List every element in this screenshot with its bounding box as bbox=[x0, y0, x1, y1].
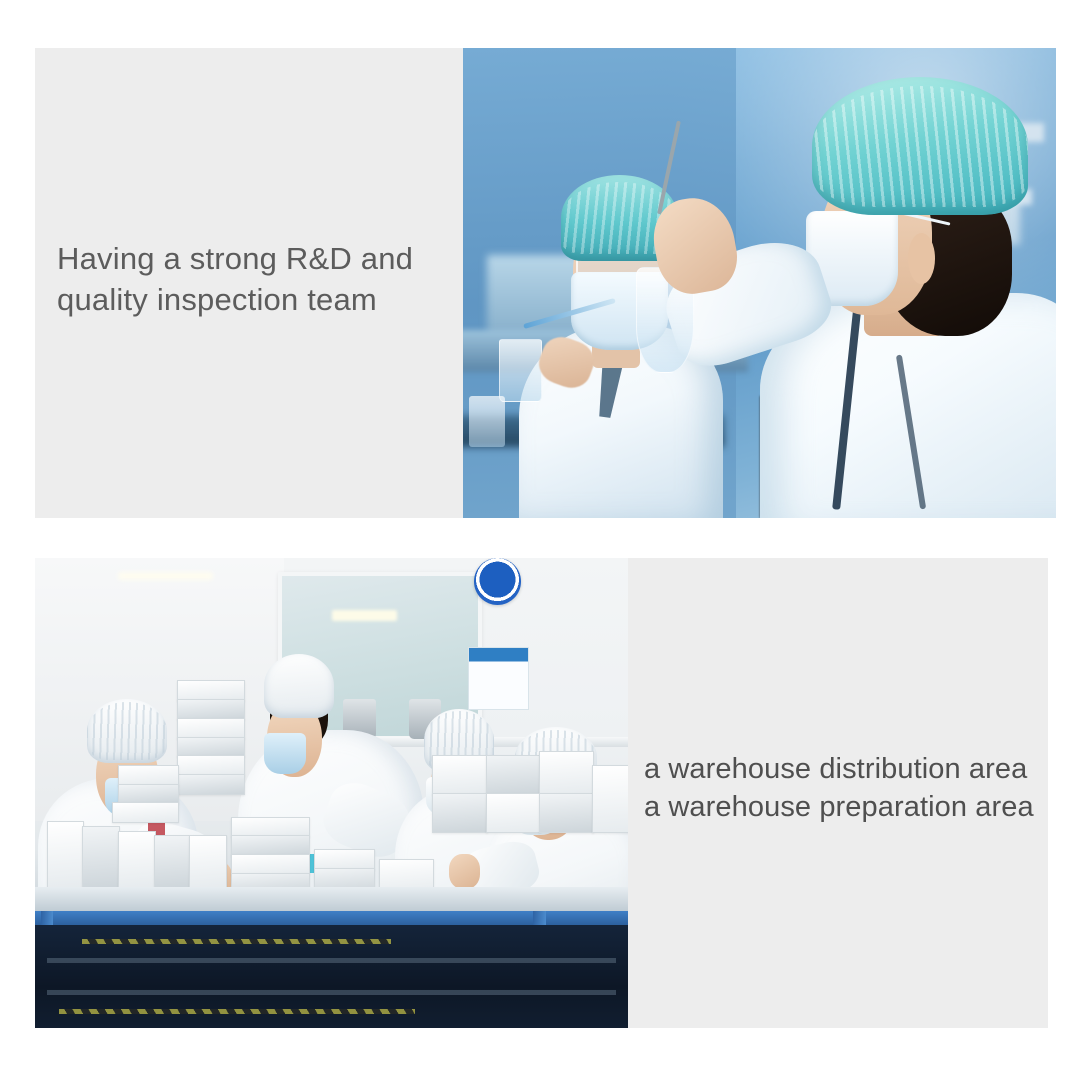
carton bbox=[231, 817, 310, 838]
carton bbox=[177, 774, 244, 795]
carton bbox=[432, 755, 487, 795]
floor-hazard-stripe-2 bbox=[59, 1009, 415, 1014]
carton bbox=[118, 784, 179, 805]
carton bbox=[432, 793, 487, 833]
carton bbox=[177, 737, 244, 758]
table-cross-bar bbox=[47, 958, 616, 963]
lab-beaker bbox=[499, 339, 543, 402]
carton bbox=[486, 793, 541, 833]
carton bbox=[592, 765, 628, 833]
carton bbox=[82, 826, 120, 889]
lab-worker-profile bbox=[760, 86, 1057, 518]
lab-worker-profile-hairnet-texture bbox=[812, 86, 1028, 207]
blue-circular-sign-icon bbox=[474, 558, 521, 605]
carton bbox=[539, 751, 594, 795]
caption-warehouse: a warehouse distribution area a warehous… bbox=[644, 750, 1044, 826]
warehouse-worker-2-hairnet bbox=[264, 654, 334, 718]
warehouse-worker-2-mask bbox=[264, 733, 306, 774]
carton bbox=[154, 835, 192, 889]
carton bbox=[486, 755, 541, 795]
carton bbox=[118, 765, 179, 786]
warehouse-packing-photo bbox=[35, 558, 628, 1028]
carton bbox=[177, 755, 244, 776]
section-rnd-quality: Having a strong R&D and quality inspecti… bbox=[35, 48, 1056, 518]
warehouse-worker-4-hand bbox=[449, 854, 480, 889]
carton bbox=[177, 699, 244, 720]
section-warehouse: a warehouse distribution area a warehous… bbox=[35, 558, 1048, 1028]
carton bbox=[177, 718, 244, 739]
carton bbox=[539, 793, 594, 833]
window-interior-light bbox=[332, 610, 397, 621]
lab-beaker-secondary bbox=[469, 396, 505, 448]
table-cross-bar-2 bbox=[47, 990, 616, 995]
lab-quality-inspection-photo bbox=[463, 48, 1056, 518]
carton bbox=[314, 849, 375, 870]
ceiling-light bbox=[118, 572, 213, 580]
carton bbox=[177, 680, 244, 701]
carton bbox=[112, 802, 179, 823]
carton bbox=[47, 821, 85, 889]
caption-rnd-quality: Having a strong R&D and quality inspecti… bbox=[57, 238, 467, 320]
carton bbox=[231, 835, 310, 856]
page-root: Having a strong R&D and quality inspecti… bbox=[0, 0, 1080, 1080]
carton bbox=[189, 835, 227, 889]
carton bbox=[231, 854, 310, 875]
floor-hazard-stripe bbox=[82, 939, 390, 944]
carton bbox=[118, 831, 156, 889]
warehouse-worker-1-hairnet-texture bbox=[87, 702, 167, 761]
